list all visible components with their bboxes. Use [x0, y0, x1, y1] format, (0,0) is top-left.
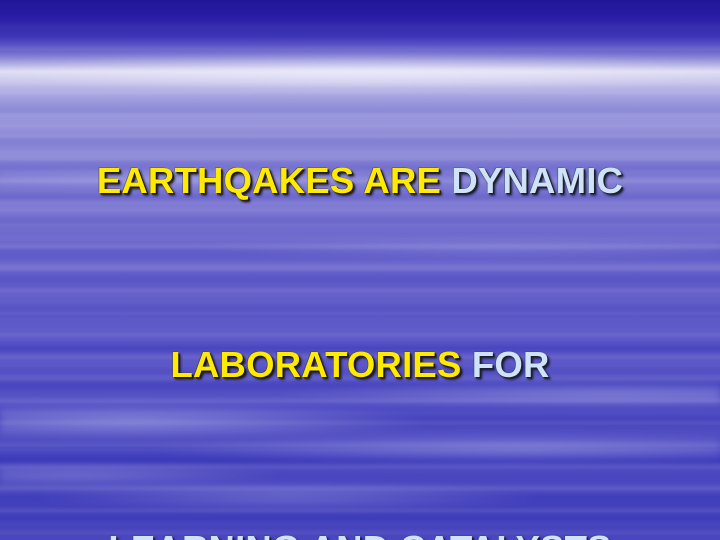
title-segment: EARTHQAKES ARE: [97, 160, 452, 201]
title-segment: FOR: [472, 344, 550, 385]
slide-title: EARTHQAKES ARE DYNAMIC LABORATORIES FOR …: [0, 66, 720, 540]
title-segment: LEARNING AND CATALYSTS: [108, 528, 611, 540]
title-line-1: EARTHQAKES ARE DYNAMIC: [0, 158, 720, 204]
title-segment: LABORATORIES: [170, 344, 471, 385]
background-top-fade: [0, 0, 720, 70]
presentation-slide: EARTHQAKES ARE DYNAMIC LABORATORIES FOR …: [0, 0, 720, 540]
title-line-2: LABORATORIES FOR: [0, 342, 720, 388]
title-segment: DYNAMIC: [451, 160, 623, 201]
title-line-3: LEARNING AND CATALYSTS: [0, 526, 720, 540]
